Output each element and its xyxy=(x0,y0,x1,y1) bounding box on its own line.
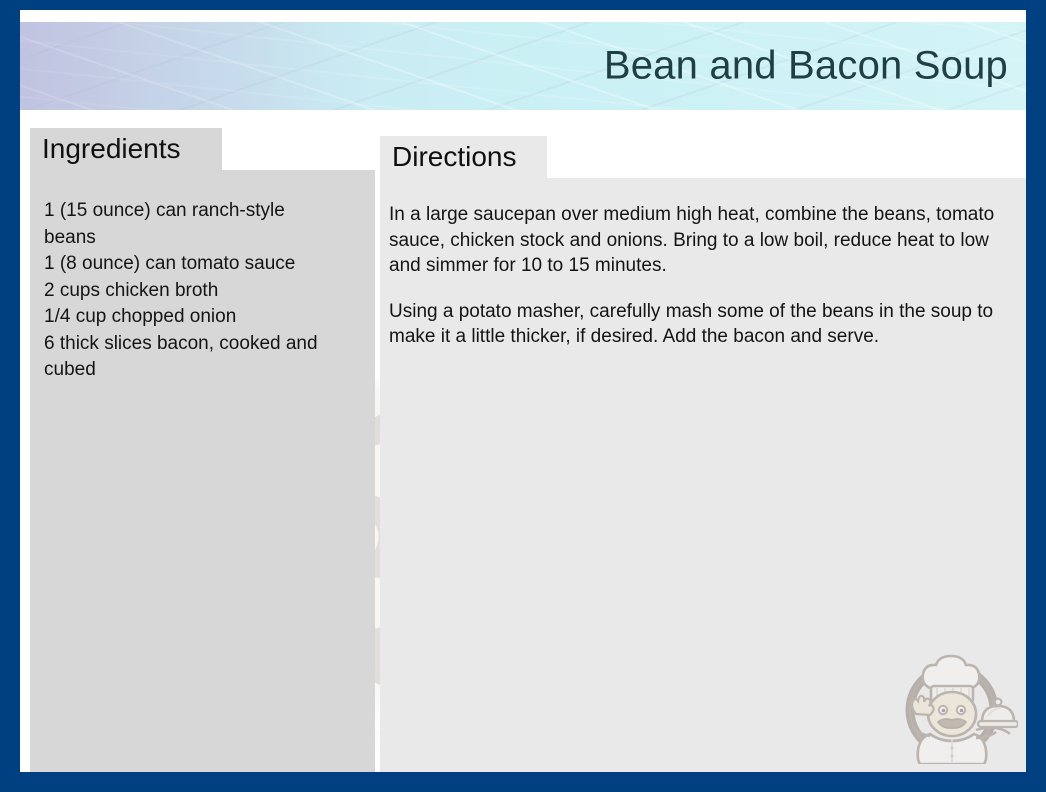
ingredient-line: 6 thick slices bacon, cooked and xyxy=(44,331,359,358)
content-panels: Ingredients 1 (15 ounce) can ranch-style… xyxy=(20,10,1026,772)
ingredient-line: 1 (8 ounce) can tomato sauce xyxy=(44,251,359,278)
directions-tab: Directions xyxy=(380,136,547,178)
ingredient-line: cubed xyxy=(44,357,359,384)
ingredients-panel: 1 (15 ounce) can ranch-style beans 1 (8 … xyxy=(30,170,375,772)
ingredients-heading: Ingredients xyxy=(30,133,181,165)
ingredient-line: 2 cups chicken broth xyxy=(44,278,359,305)
ingredient-line: beans xyxy=(44,225,359,252)
page-title: Bean and Bacon Soup xyxy=(604,44,1008,89)
ingredients-tab: Ingredients xyxy=(30,128,222,170)
directions-paragraph: Using a potato masher, carefully mash so… xyxy=(389,299,1019,350)
slide-inner-page: Bean and Bacon Soup Ingredients 1 (15 ou… xyxy=(20,10,1026,772)
directions-paragraph: In a large saucepan over medium high hea… xyxy=(389,202,1019,279)
ingredient-line: 1/4 cup chopped onion xyxy=(44,304,359,331)
directions-heading: Directions xyxy=(380,141,516,173)
recipe-slide: Bean and Bacon Soup Ingredients 1 (15 ou… xyxy=(0,0,1046,792)
ingredient-line: 1 (15 ounce) can ranch-style xyxy=(44,198,359,225)
directions-panel: In a large saucepan over medium high hea… xyxy=(380,178,1026,772)
